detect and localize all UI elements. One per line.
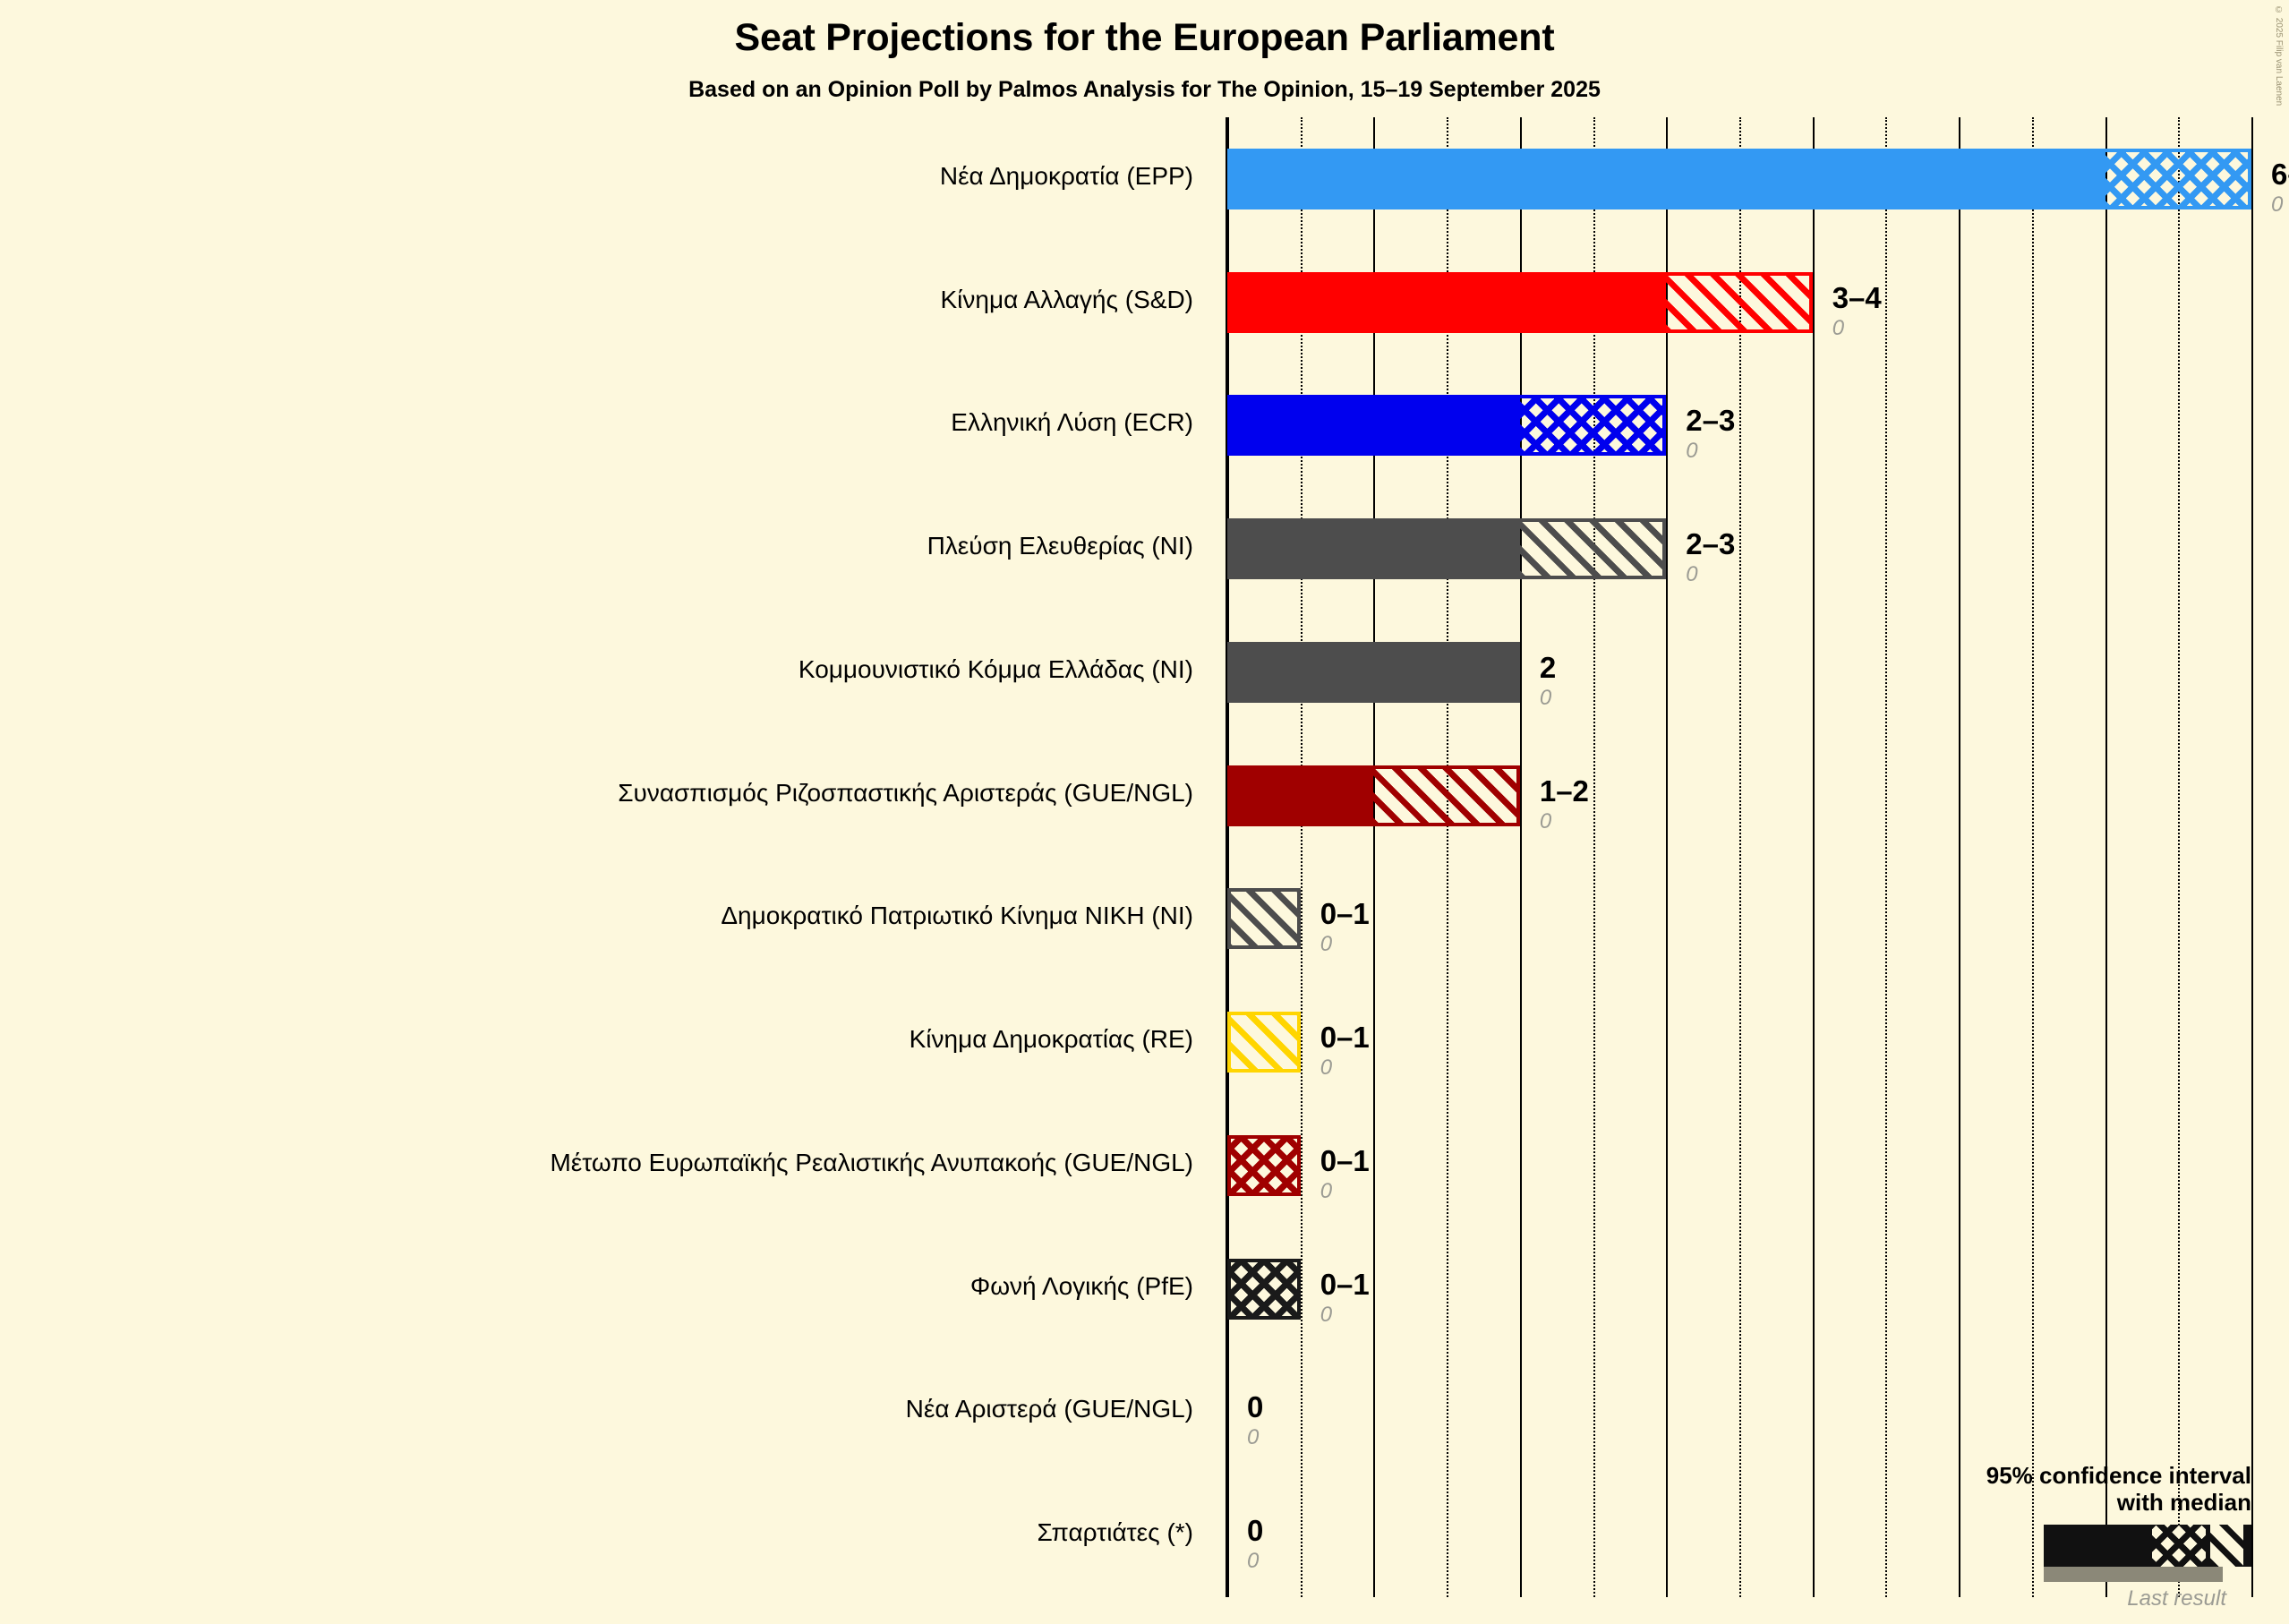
bar-row[interactable]: Δημοκρατικό Πατριωτικό Κίνημα ΝΙΚΗ (NI)0… bbox=[1227, 858, 2251, 981]
bar-ci-segment bbox=[1666, 272, 1812, 333]
bar-row[interactable]: Νέα Αριστερά (GUE/NGL)00 bbox=[1227, 1351, 2251, 1474]
party-label: Δημοκρατικό Πατριωτικό Κίνημα ΝΙΚΗ (NI) bbox=[721, 902, 1193, 930]
party-label: Φωνή Λογικής (PfE) bbox=[970, 1272, 1193, 1301]
bar-row[interactable]: Κίνημα Δημοκρατίας (RE)0–10 bbox=[1227, 980, 2251, 1104]
legend-last-result-swatch bbox=[2044, 1567, 2223, 1582]
party-label: Μέτωπο Ευρωπαϊκής Ρεαλιστικής Ανυπακοής … bbox=[550, 1149, 1193, 1177]
bar-row[interactable]: Νέα Δημοκρατία (EPP)6–70 bbox=[1227, 117, 2251, 241]
last-result-label: 0 bbox=[1320, 1057, 1332, 1079]
party-label: Ελληνική Λύση (ECR) bbox=[951, 408, 1193, 437]
page-subtitle: Based on an Opinion Poll by Palmos Analy… bbox=[0, 77, 2289, 103]
legend-last-result-swatch-wrap bbox=[1875, 1567, 2251, 1582]
last-result-label: 0 bbox=[2271, 194, 2283, 216]
seat-range-label: 0 bbox=[1247, 1516, 1263, 1545]
seat-range-label: 3–4 bbox=[1832, 283, 1882, 312]
legend-line-1: 95% confidence interval bbox=[1875, 1462, 2251, 1490]
bar-row[interactable]: Συνασπισμός Ριζοσπαστικής Αριστεράς (GUE… bbox=[1227, 734, 2251, 858]
seat-range-label: 2–3 bbox=[1686, 529, 1735, 559]
seat-range-label: 0–1 bbox=[1320, 1022, 1370, 1052]
party-label: Συνασπισμός Ριζοσπαστικής Αριστεράς (GUE… bbox=[618, 779, 1193, 808]
party-label: Κίνημα Δημοκρατίας (RE) bbox=[910, 1025, 1193, 1054]
last-result-label: 0 bbox=[1540, 688, 1551, 709]
bar-median-segment bbox=[1227, 518, 1520, 579]
bar-ci-segment bbox=[1227, 888, 1301, 949]
party-label: Κομμουνιστικό Κόμμα Ελλάδας (NI) bbox=[799, 655, 1193, 684]
bar-ci-segment bbox=[2105, 149, 2251, 209]
bar-rows: Νέα Δημοκρατία (EPP)6–70Κίνημα Αλλαγής (… bbox=[1227, 117, 2251, 1597]
seat-range-label: 0–1 bbox=[1320, 1146, 1370, 1175]
last-result-label: 0 bbox=[1832, 318, 1844, 339]
last-result-label: 0 bbox=[1247, 1427, 1259, 1449]
party-label: Σπαρτιάτες (*) bbox=[1038, 1518, 1193, 1547]
legend-hatch-segment bbox=[2210, 1525, 2243, 1567]
legend-confidence-bar bbox=[2044, 1525, 2251, 1567]
last-result-label: 0 bbox=[1247, 1551, 1259, 1572]
bar-row[interactable]: Κίνημα Αλλαγής (S&D)3–40 bbox=[1227, 241, 2251, 364]
last-result-label: 0 bbox=[1320, 1304, 1332, 1326]
seat-range-label: 0–1 bbox=[1320, 899, 1370, 928]
bar-ci-segment bbox=[1373, 765, 1519, 826]
bar-row[interactable]: Φωνή Λογικής (PfE)0–10 bbox=[1227, 1227, 2251, 1351]
seat-range-label: 0 bbox=[1247, 1392, 1263, 1422]
last-result-label: 0 bbox=[1320, 1181, 1332, 1202]
page-title: Seat Projections for the European Parlia… bbox=[0, 16, 2289, 60]
seat-projection-chart: Seat Projections for the European Parlia… bbox=[0, 0, 2289, 1624]
bar-row[interactable]: Ελληνική Λύση (ECR)2–30 bbox=[1227, 364, 2251, 488]
bar-ci-segment bbox=[1520, 518, 1666, 579]
bar-median-segment bbox=[1227, 272, 1666, 333]
copyright-notice: © 2025 Filip van Laenen bbox=[2274, 5, 2284, 106]
last-result-label: 0 bbox=[1686, 564, 1697, 585]
seat-range-label: 2–3 bbox=[1686, 406, 1735, 435]
gridline-major-7 bbox=[2251, 117, 2253, 1597]
party-label: Νέα Αριστερά (GUE/NGL) bbox=[906, 1395, 1193, 1423]
bar-median-segment bbox=[1227, 642, 1520, 703]
bar-ci-segment bbox=[1227, 1012, 1301, 1073]
bar-ci-segment bbox=[1227, 1135, 1301, 1196]
bar-row[interactable]: Πλεύση Ελευθερίας (NI)2–30 bbox=[1227, 487, 2251, 611]
party-label: Πλεύση Ελευθερίας (NI) bbox=[927, 532, 1193, 560]
bar-ci-segment bbox=[1227, 1259, 1301, 1320]
last-result-label: 0 bbox=[1320, 934, 1332, 955]
legend: 95% confidence interval with median Last… bbox=[1875, 1462, 2251, 1611]
seat-range-label: 0–1 bbox=[1320, 1269, 1370, 1299]
party-label: Κίνημα Αλλαγής (S&D) bbox=[940, 286, 1193, 314]
plot-area: Νέα Δημοκρατία (EPP)6–70Κίνημα Αλλαγής (… bbox=[1227, 117, 2251, 1597]
bar-median-segment bbox=[1227, 395, 1520, 456]
bar-ci-segment bbox=[1520, 395, 1666, 456]
last-result-label: 0 bbox=[1540, 811, 1551, 833]
legend-crosshatch-segment bbox=[2152, 1525, 2206, 1567]
legend-line-2: with median bbox=[1875, 1489, 2251, 1517]
seat-range-label: 2 bbox=[1540, 653, 1556, 682]
seat-range-label: 1–2 bbox=[1540, 776, 1589, 806]
seat-range-label: 6–7 bbox=[2271, 159, 2289, 189]
legend-last-result-caption: Last result bbox=[1875, 1586, 2226, 1611]
bar-median-segment bbox=[1227, 149, 2105, 209]
party-label: Νέα Δημοκρατία (EPP) bbox=[940, 162, 1193, 191]
bar-row[interactable]: Κομμουνιστικό Κόμμα Ελλάδας (NI)20 bbox=[1227, 611, 2251, 734]
bar-row[interactable]: Μέτωπο Ευρωπαϊκής Ρεαλιστικής Ανυπακοής … bbox=[1227, 1104, 2251, 1227]
last-result-label: 0 bbox=[1686, 440, 1697, 462]
bar-median-segment bbox=[1227, 765, 1373, 826]
